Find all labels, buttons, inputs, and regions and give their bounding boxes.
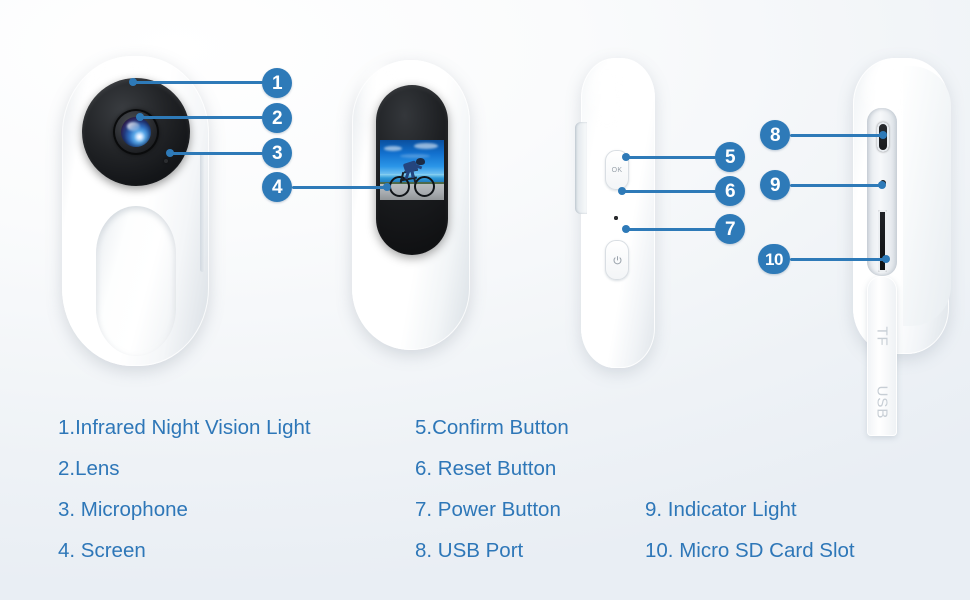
callout-badge-4[interactable]: 4	[262, 172, 292, 202]
leader-dot-4	[383, 183, 391, 191]
leader-dot-8	[879, 131, 887, 139]
legend-item-4: 4. Screen	[58, 541, 146, 562]
body-edge	[200, 152, 205, 272]
infrared-night-vision-light	[82, 78, 190, 186]
legend-item-3: 3. Microphone	[58, 500, 188, 521]
callout-badge-2[interactable]: 2	[262, 103, 292, 133]
leader-dot-6	[618, 187, 626, 195]
legend-item-7: 7. Power Button	[415, 500, 561, 521]
leader-dot-1	[129, 78, 137, 86]
legend: 1.Infrared Night Vision Light 2.Lens 3. …	[0, 398, 970, 598]
product-diagram: OK TF USB 1 2 3 4 5	[0, 0, 970, 600]
legend-item-10: 10. Micro SD Card Slot	[645, 541, 855, 562]
device-back-edge	[903, 66, 951, 326]
leader-dot-2	[136, 113, 144, 121]
leader-line-7	[626, 228, 716, 231]
leader-dot-10	[882, 255, 890, 263]
leader-line-3	[170, 152, 263, 155]
callout-badge-5[interactable]: 5	[715, 142, 745, 172]
lens	[121, 117, 151, 147]
confirm-button-label: OK	[612, 167, 623, 174]
leader-line-9	[790, 184, 882, 187]
screen	[380, 140, 444, 200]
leader-line-10	[790, 258, 886, 261]
legend-item-5: 5.Confirm Button	[415, 418, 569, 439]
device-side-button-view: OK	[575, 58, 655, 368]
leader-dot-3	[166, 149, 174, 157]
device-body	[581, 58, 655, 368]
device-screen-view	[352, 60, 470, 350]
clip-recess	[96, 206, 176, 356]
microphone	[164, 159, 168, 163]
power-button[interactable]	[605, 240, 629, 280]
callout-badge-6[interactable]: 6	[715, 176, 745, 206]
leader-line-4	[292, 186, 387, 189]
callout-badge-9[interactable]: 9	[760, 170, 790, 200]
screen-cloud	[414, 143, 438, 149]
leader-line-1	[133, 81, 263, 84]
legend-item-2: 2.Lens	[58, 459, 120, 480]
legend-item-1: 1.Infrared Night Vision Light	[58, 418, 311, 439]
legend-item-9: 9. Indicator Light	[645, 500, 797, 521]
screen-bezel	[376, 85, 448, 255]
screen-cloud	[384, 146, 402, 151]
device-side-port-view: TF USB	[845, 58, 965, 358]
callout-badge-3[interactable]: 3	[262, 138, 292, 168]
callout-badge-10[interactable]: 10	[758, 244, 790, 274]
device-front-view	[62, 56, 209, 366]
power-icon	[612, 255, 623, 266]
leader-dot-5	[622, 153, 630, 161]
leader-dot-9	[878, 181, 886, 189]
callout-badge-8[interactable]: 8	[760, 120, 790, 150]
leader-line-2	[140, 116, 263, 119]
legend-item-8: 8. USB Port	[415, 541, 523, 562]
leader-line-8	[790, 134, 883, 137]
callout-badge-1[interactable]: 1	[262, 68, 292, 98]
leader-line-6	[622, 190, 716, 193]
screen-cloud	[400, 154, 430, 158]
tf-label: TF	[874, 326, 891, 346]
reset-button[interactable]	[614, 216, 618, 220]
leader-dot-7	[622, 225, 630, 233]
clip-rail	[575, 122, 587, 214]
leader-line-5	[626, 156, 716, 159]
callout-badge-7[interactable]: 7	[715, 214, 745, 244]
legend-item-6: 6. Reset Button	[415, 459, 556, 480]
